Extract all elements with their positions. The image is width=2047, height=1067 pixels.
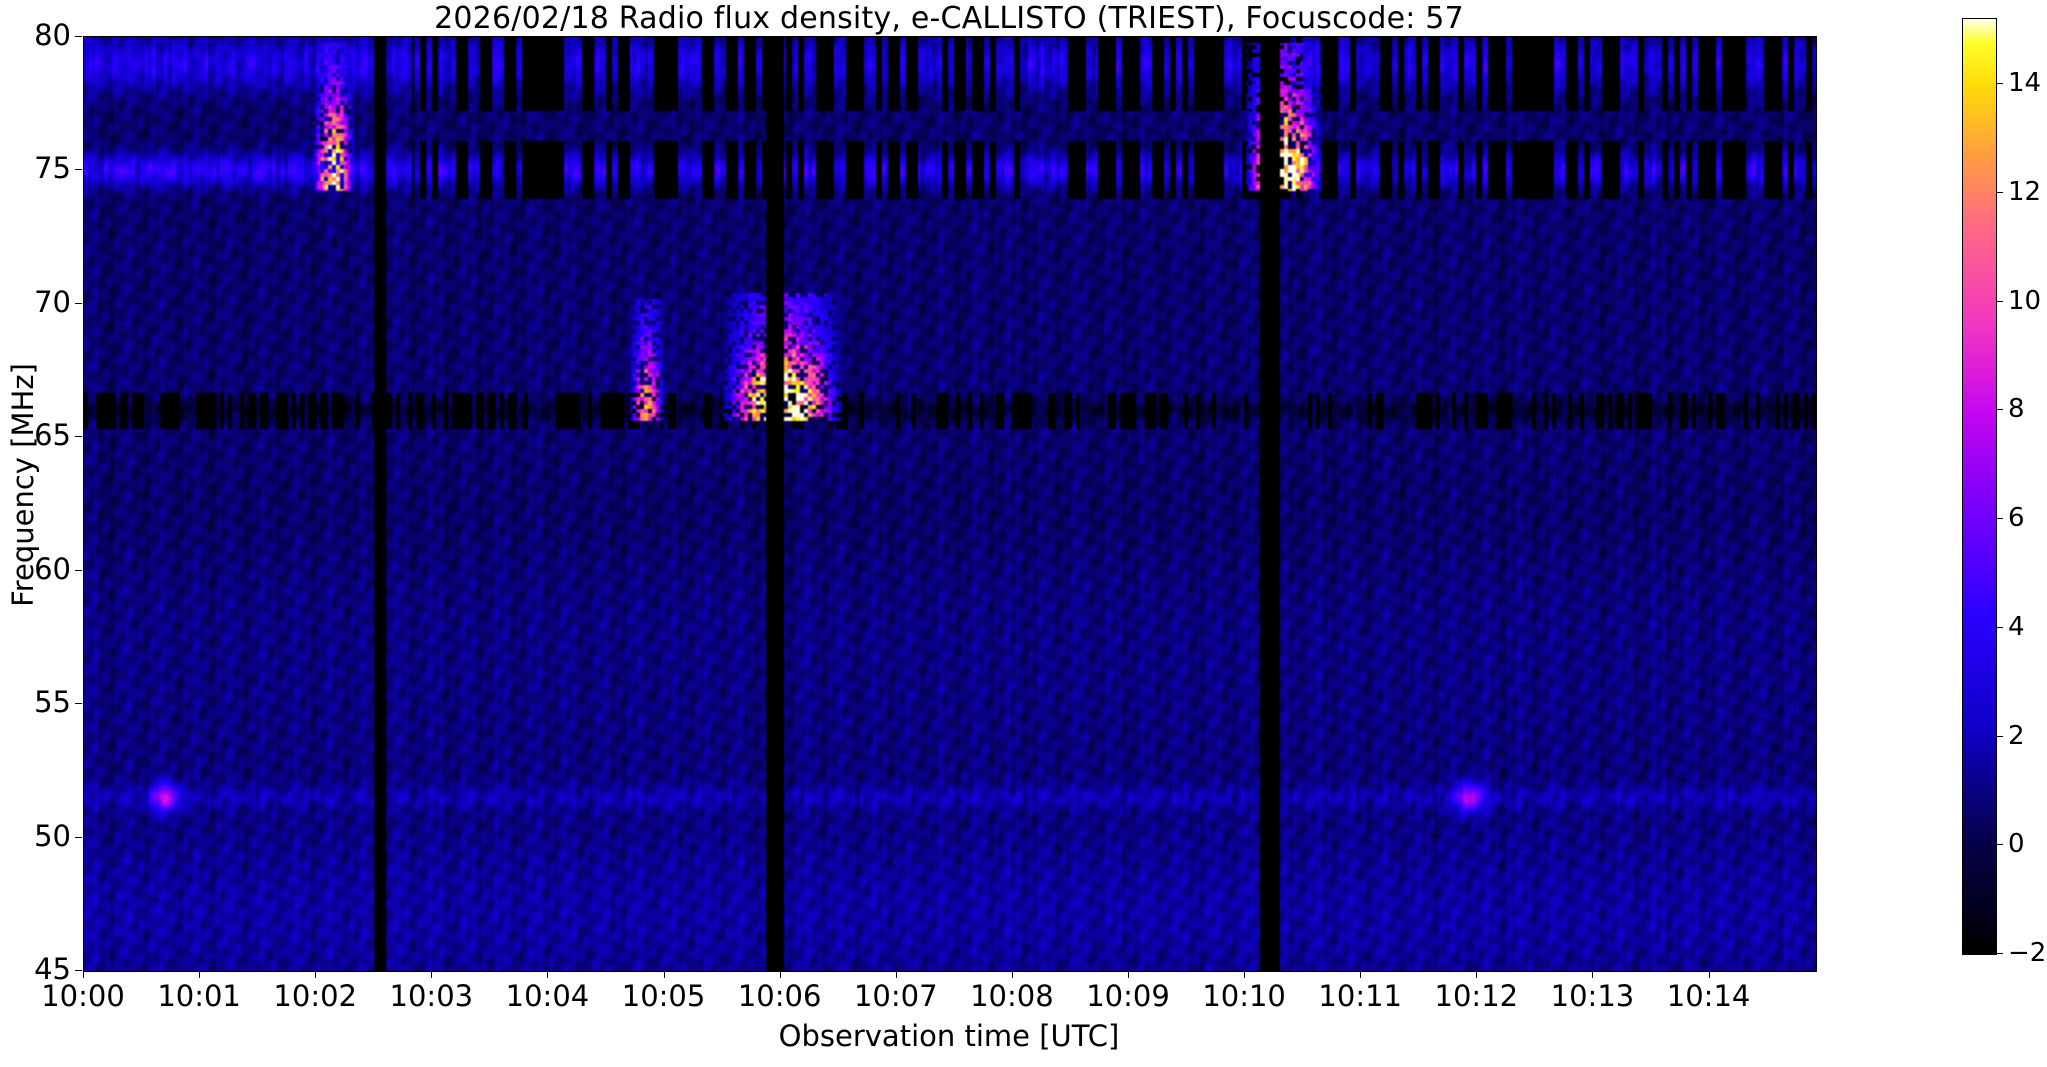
colorbar-tick-mark [1996,844,2003,845]
y-tick-mark [75,970,82,971]
colorbar-tick-label: −2 [2008,940,2047,966]
y-tick-label: 60 [0,555,71,584]
colorbar-tick-label: 14 [2008,70,2047,96]
y-tick-label: 55 [0,688,71,717]
colorbar-tick-mark [1996,518,2003,519]
y-tick-mark [75,570,82,571]
x-tick-mark [1592,971,1593,978]
spectrogram-canvas [84,37,1816,971]
colorbar-tick-mark [1996,736,2003,737]
y-tick-label: 80 [0,21,71,50]
y-tick-mark [75,837,82,838]
colorbar-tick-label: 2 [2008,723,2047,749]
x-tick-mark [83,971,84,978]
colorbar-tick-label: 12 [2008,179,2047,205]
x-tick-mark [1360,971,1361,978]
x-tick-mark [199,971,200,978]
colorbar[interactable] [1962,18,1997,955]
x-tick-mark [1709,971,1710,978]
y-tick-mark [75,36,82,37]
colorbar-tick-mark [1996,409,2003,410]
colorbar-gradient [1963,19,1996,954]
colorbar-tick-label: 8 [2008,396,2047,422]
colorbar-tick-label: 0 [2008,831,2047,857]
x-tick-mark [664,971,665,978]
spectrogram-plot-area[interactable] [83,36,1817,972]
x-tick-mark [547,971,548,978]
colorbar-tick-mark [1996,627,2003,628]
x-tick-mark [1476,971,1477,978]
x-tick-mark [780,971,781,978]
y-tick-label: 50 [0,822,71,851]
figure-root: 2026/02/18 Radio flux density, e-CALLIST… [0,0,2047,1067]
x-tick-mark [1244,971,1245,978]
y-tick-label: 75 [0,154,71,183]
colorbar-tick-mark [1996,953,2003,954]
colorbar-tick-label: 4 [2008,614,2047,640]
y-tick-mark [75,169,82,170]
colorbar-tick-mark [1996,192,2003,193]
y-tick-mark [75,436,82,437]
x-tick-mark [431,971,432,978]
x-axis-label: Observation time [UTC] [83,1020,1815,1053]
x-tick-mark [315,971,316,978]
chart-title: 2026/02/18 Radio flux density, e-CALLIST… [0,2,1898,36]
x-tick-mark [1012,971,1013,978]
y-tick-label: 65 [0,421,71,450]
y-tick-mark [75,703,82,704]
colorbar-tick-mark [1996,83,2003,84]
colorbar-tick-label: 6 [2008,505,2047,531]
x-tick-mark [1128,971,1129,978]
y-tick-label: 70 [0,288,71,317]
colorbar-tick-mark [1996,301,2003,302]
y-tick-mark [75,303,82,304]
x-tick-label: 10:14 [1629,982,1789,1011]
colorbar-tick-label: 10 [2008,288,2047,314]
x-tick-mark [896,971,897,978]
